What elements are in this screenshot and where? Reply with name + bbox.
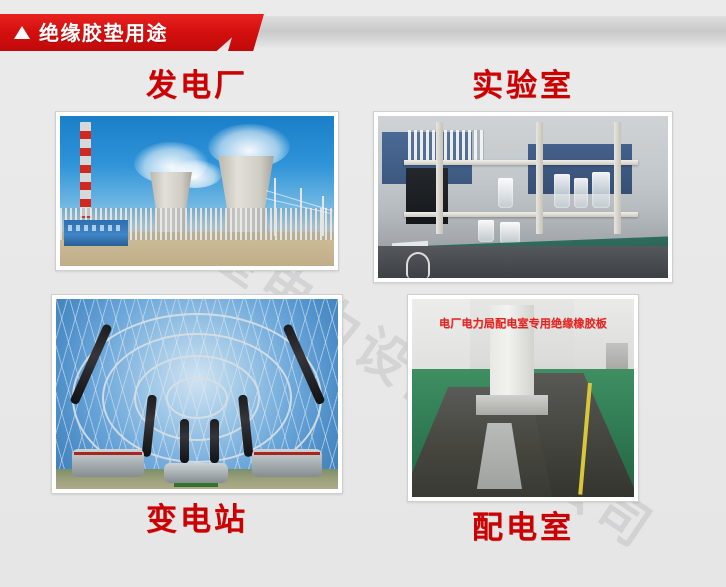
photo-distribution-room: 电厂电力局配电室专用绝缘橡胶板 — [412, 299, 634, 497]
card-caption-power-plant: 发电厂 — [146, 70, 248, 103]
banner-red-block: 绝缘胶垫用途 — [0, 14, 258, 51]
glass-flask — [500, 222, 520, 244]
photo-frame-laboratory — [373, 111, 673, 283]
insulator-column — [180, 419, 189, 463]
usage-grid: 发电厂 — [0, 56, 726, 576]
shelf-post — [614, 122, 621, 234]
card-caption-laboratory: 实验室 — [472, 70, 574, 103]
card-substation: 变电站 — [44, 294, 350, 537]
glass-bottle — [592, 172, 610, 208]
photo-frame-distribution-room: 电厂电力局配电室专用绝缘橡胶板 — [407, 294, 639, 502]
pylon — [300, 188, 302, 236]
shelf-post — [536, 122, 543, 234]
plant-building — [64, 220, 128, 246]
equipment-marker-band — [74, 452, 142, 455]
pylon — [322, 196, 324, 236]
fisheye-ring — [166, 377, 228, 419]
card-laboratory: 实验室 — [360, 70, 686, 283]
section-banner: 绝缘胶垫用途 — [0, 14, 726, 51]
room-door — [606, 343, 628, 371]
glass-bottle — [574, 178, 588, 208]
card-caption-substation: 变电站 — [146, 504, 248, 537]
card-caption-distribution-room: 配电室 — [472, 512, 574, 545]
card-distribution-room: 电厂电力局配电室专用绝缘橡胶板 配电室 — [360, 294, 686, 545]
card-power-plant: 发电厂 — [44, 70, 350, 271]
insulator-column — [210, 419, 219, 463]
chimney-stack — [80, 122, 91, 218]
test-tube-rack — [408, 130, 484, 160]
photo-frame-power-plant — [55, 111, 339, 271]
shelf-post — [436, 122, 443, 234]
glass-bottle — [554, 174, 570, 208]
banner-title: 绝缘胶垫用途 — [39, 23, 168, 43]
lab-stool — [406, 252, 430, 278]
page-root: 河北五星电力设备有限公司 绝缘胶垫用途 发电厂 — [0, 0, 726, 587]
pylon — [274, 178, 276, 236]
cabinet-base — [476, 395, 548, 415]
switchgear-unit — [164, 463, 228, 483]
triangle-up-icon — [14, 26, 30, 39]
glass-bottle — [498, 178, 513, 208]
photo-substation — [56, 299, 338, 489]
photo-overlay-label: 电厂电力局配电室专用绝缘橡胶板 — [439, 315, 607, 331]
glass-flask — [478, 220, 494, 242]
photo-frame-substation — [51, 294, 343, 494]
equipment-marker-band — [254, 452, 320, 455]
photo-power-plant — [60, 116, 334, 266]
photo-laboratory — [378, 116, 668, 278]
